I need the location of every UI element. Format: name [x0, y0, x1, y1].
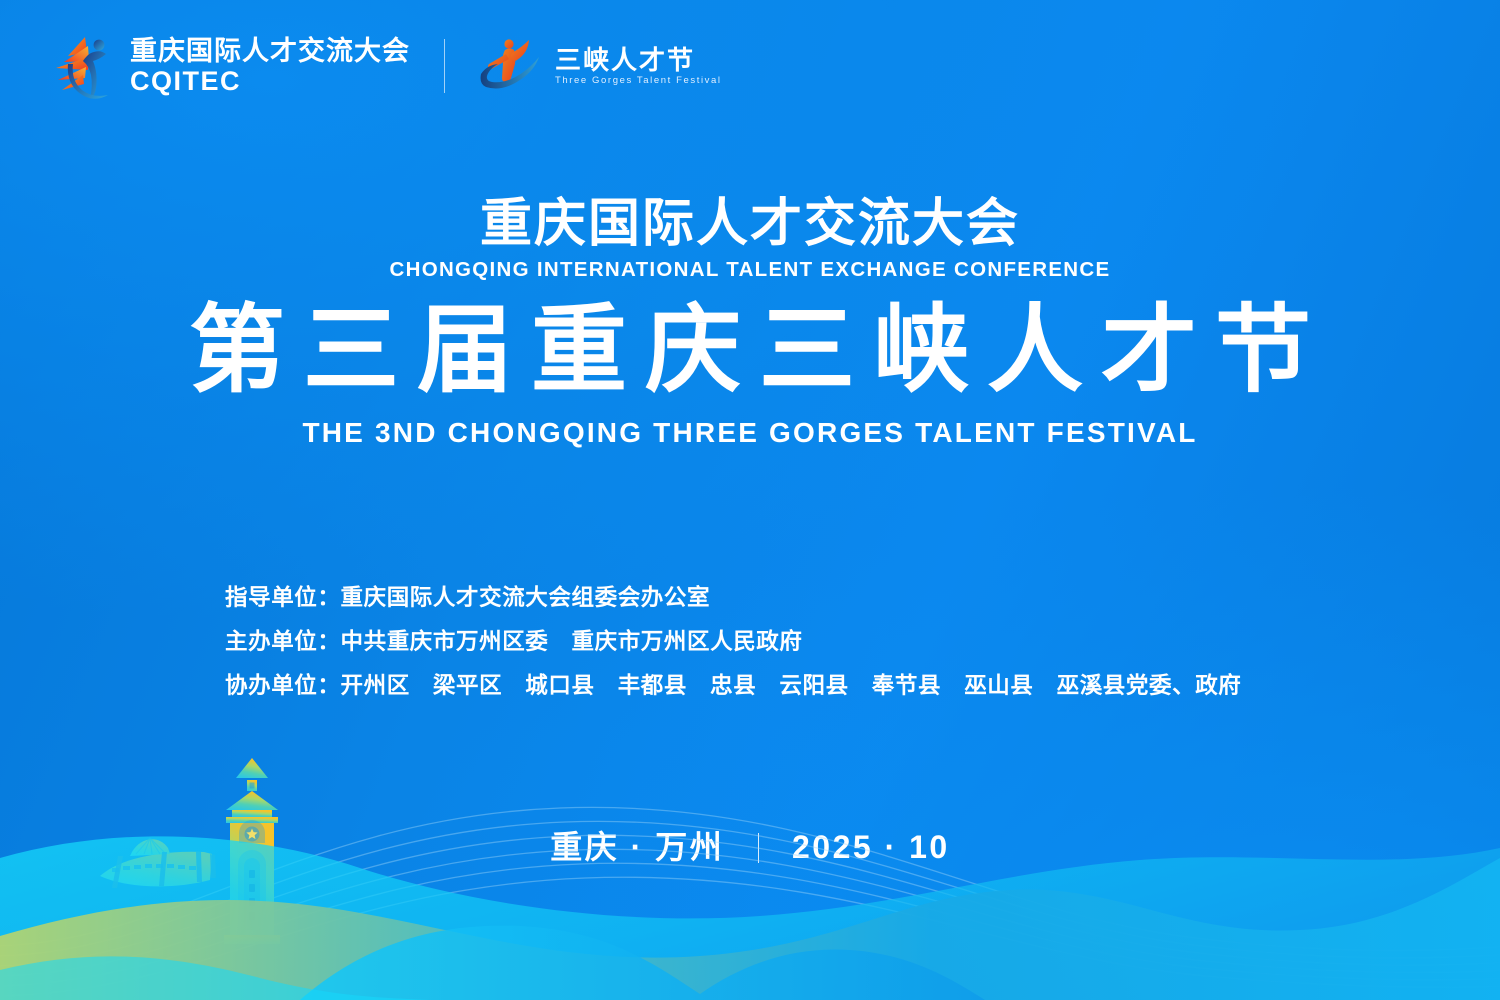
three-gorges-logo-text: 三峡人才节 Three Gorges Talent Festival	[555, 46, 722, 86]
organizer-list: 指导单位：重庆国际人才交流大会组委会办公室 主办单位：中共重庆市万州区委 重庆市…	[225, 584, 1241, 700]
location-text: 重庆 · 万州	[550, 829, 724, 865]
cqitec-logo-en: CQITEC	[130, 66, 410, 96]
date-location-line: 重庆 · 万州 2025 · 10	[0, 822, 1500, 868]
logo-divider	[444, 39, 445, 93]
headline-block: 重庆国际人才交流大会 CHONGQING INTERNATIONAL TALEN…	[0, 196, 1500, 449]
poster-canvas: 重庆国际人才交流大会 CQITEC	[0, 0, 1500, 1000]
cqitec-logo-text: 重庆国际人才交流大会 CQITEC	[130, 36, 410, 96]
three-gorges-logo: 三峡人才节 Three Gorges Talent Festival	[479, 34, 722, 99]
cqitec-logo: 重庆国际人才交流大会 CQITEC	[44, 28, 410, 105]
organizer-line-guidance: 指导单位：重庆国际人才交流大会组委会办公室	[225, 584, 1241, 612]
wave-layer-teal	[0, 858, 1500, 1000]
conference-title-cn: 重庆国际人才交流大会	[0, 196, 1500, 252]
bottom-decorative-artwork	[0, 740, 1500, 1000]
cqitec-phoenix-figure-logo-icon	[44, 28, 118, 105]
festival-title-cn: 第三届重庆三峡人才节	[0, 294, 1500, 407]
date-text: 2025 · 10	[792, 829, 950, 865]
three-gorges-logo-en: Three Gorges Talent Festival	[555, 76, 722, 86]
three-gorges-logo-cn: 三峡人才节	[555, 46, 722, 75]
three-gorges-talent-figure-logo-icon	[479, 34, 543, 99]
dateline-separator	[758, 833, 759, 863]
wave-layer-front	[0, 956, 430, 1000]
wave-layer-mid	[300, 926, 985, 1000]
cqitec-logo-cn: 重庆国际人才交流大会	[130, 36, 410, 66]
festival-title-en: THE 3ND CHONGQING THREE GORGES TALENT FE…	[0, 417, 1500, 449]
logo-bar: 重庆国际人才交流大会 CQITEC	[44, 30, 722, 102]
organizer-line-coorganizer: 协办单位：开州区 梁平区 城口县 丰都县 忠县 云阳县 奉节县 巫山县 巫溪县党…	[225, 672, 1241, 700]
organizer-line-host: 主办单位：中共重庆市万州区委 重庆市万州区人民政府	[225, 628, 1241, 656]
conference-title-en: CHONGQING INTERNATIONAL TALENT EXCHANGE …	[0, 258, 1500, 282]
